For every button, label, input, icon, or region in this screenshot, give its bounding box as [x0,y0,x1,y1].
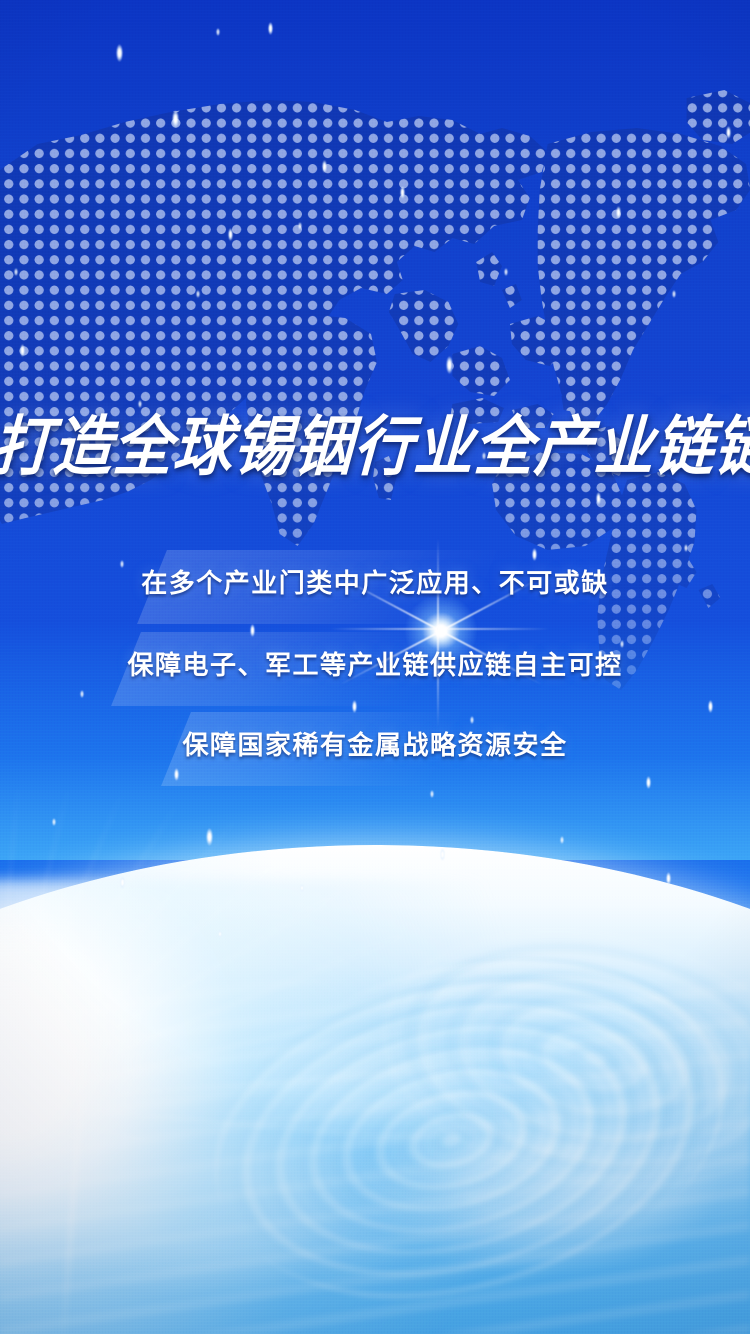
poster-content: 打造全球锡铟行业全产业链链主 在多个产业门类中广泛应用、不可或缺 保障电子、军工… [0,0,750,1334]
page-title: 打造全球锡铟行业全产业链链主 [0,414,750,482]
tagline-2: 保障电子、军工等产业链供应链自主可控 [0,645,750,682]
tagline-3: 保障国家稀有金属战略资源安全 [0,725,750,762]
poster-canvas: 打造全球锡铟行业全产业链链主 在多个产业门类中广泛应用、不可或缺 保障电子、军工… [0,0,750,1334]
tagline-1: 在多个产业门类中广泛应用、不可或缺 [0,563,750,600]
